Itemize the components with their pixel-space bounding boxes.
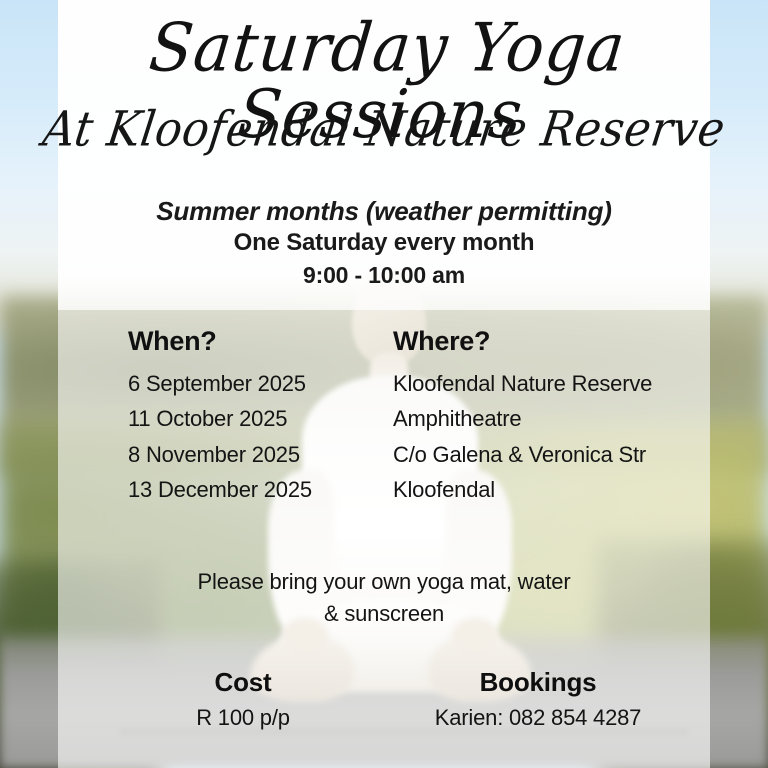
tagline-line-3: 9:00 - 10:00 am (0, 260, 768, 291)
bring-note: Please bring your own yoga mat, water & … (0, 566, 768, 630)
cost-column: Cost R 100 p/p (118, 666, 368, 733)
footer-block: Cost R 100 p/p Bookings Karien: 082 854 … (0, 666, 768, 733)
poster-content: Saturday Yoga Sessions At Kloofendal Nat… (0, 0, 768, 768)
cost-heading: Cost (118, 666, 368, 699)
poster-subtitle: At Kloofendal Nature Reserve (0, 106, 768, 154)
where-heading: Where? (393, 326, 693, 357)
when-date-item: 8 November 2025 (128, 437, 388, 472)
where-address-line: Amphitheatre (393, 401, 693, 436)
where-column: Where? Kloofendal Nature Reserve Amphith… (393, 326, 693, 508)
tagline-line-1: Summer months (weather permitting) (0, 196, 768, 227)
when-date-item: 11 October 2025 (128, 401, 388, 436)
when-heading: When? (128, 326, 388, 357)
bookings-column: Bookings Karien: 082 854 4287 (388, 666, 688, 733)
where-address-line: C/o Galena & Veronica Str (393, 437, 693, 472)
when-column: When? 6 September 2025 11 October 2025 8… (128, 326, 388, 508)
cost-value: R 100 p/p (118, 702, 368, 734)
when-date-item: 13 December 2025 (128, 472, 388, 507)
bookings-heading: Bookings (388, 666, 688, 699)
bring-note-line-1: Please bring your own yoga mat, water (0, 566, 768, 598)
where-address-line: Kloofendal Nature Reserve (393, 366, 693, 401)
when-date-item: 6 September 2025 (128, 366, 388, 401)
tagline-block: Summer months (weather permitting) One S… (0, 196, 768, 291)
yoga-poster: Saturday Yoga Sessions At Kloofendal Nat… (0, 0, 768, 768)
where-address-line: Kloofendal (393, 472, 693, 507)
bookings-contact: Karien: 082 854 4287 (388, 702, 688, 734)
details-columns: When? 6 September 2025 11 October 2025 8… (0, 326, 768, 508)
tagline-line-2: One Saturday every month (0, 227, 768, 259)
bring-note-line-2: & sunscreen (0, 598, 768, 630)
